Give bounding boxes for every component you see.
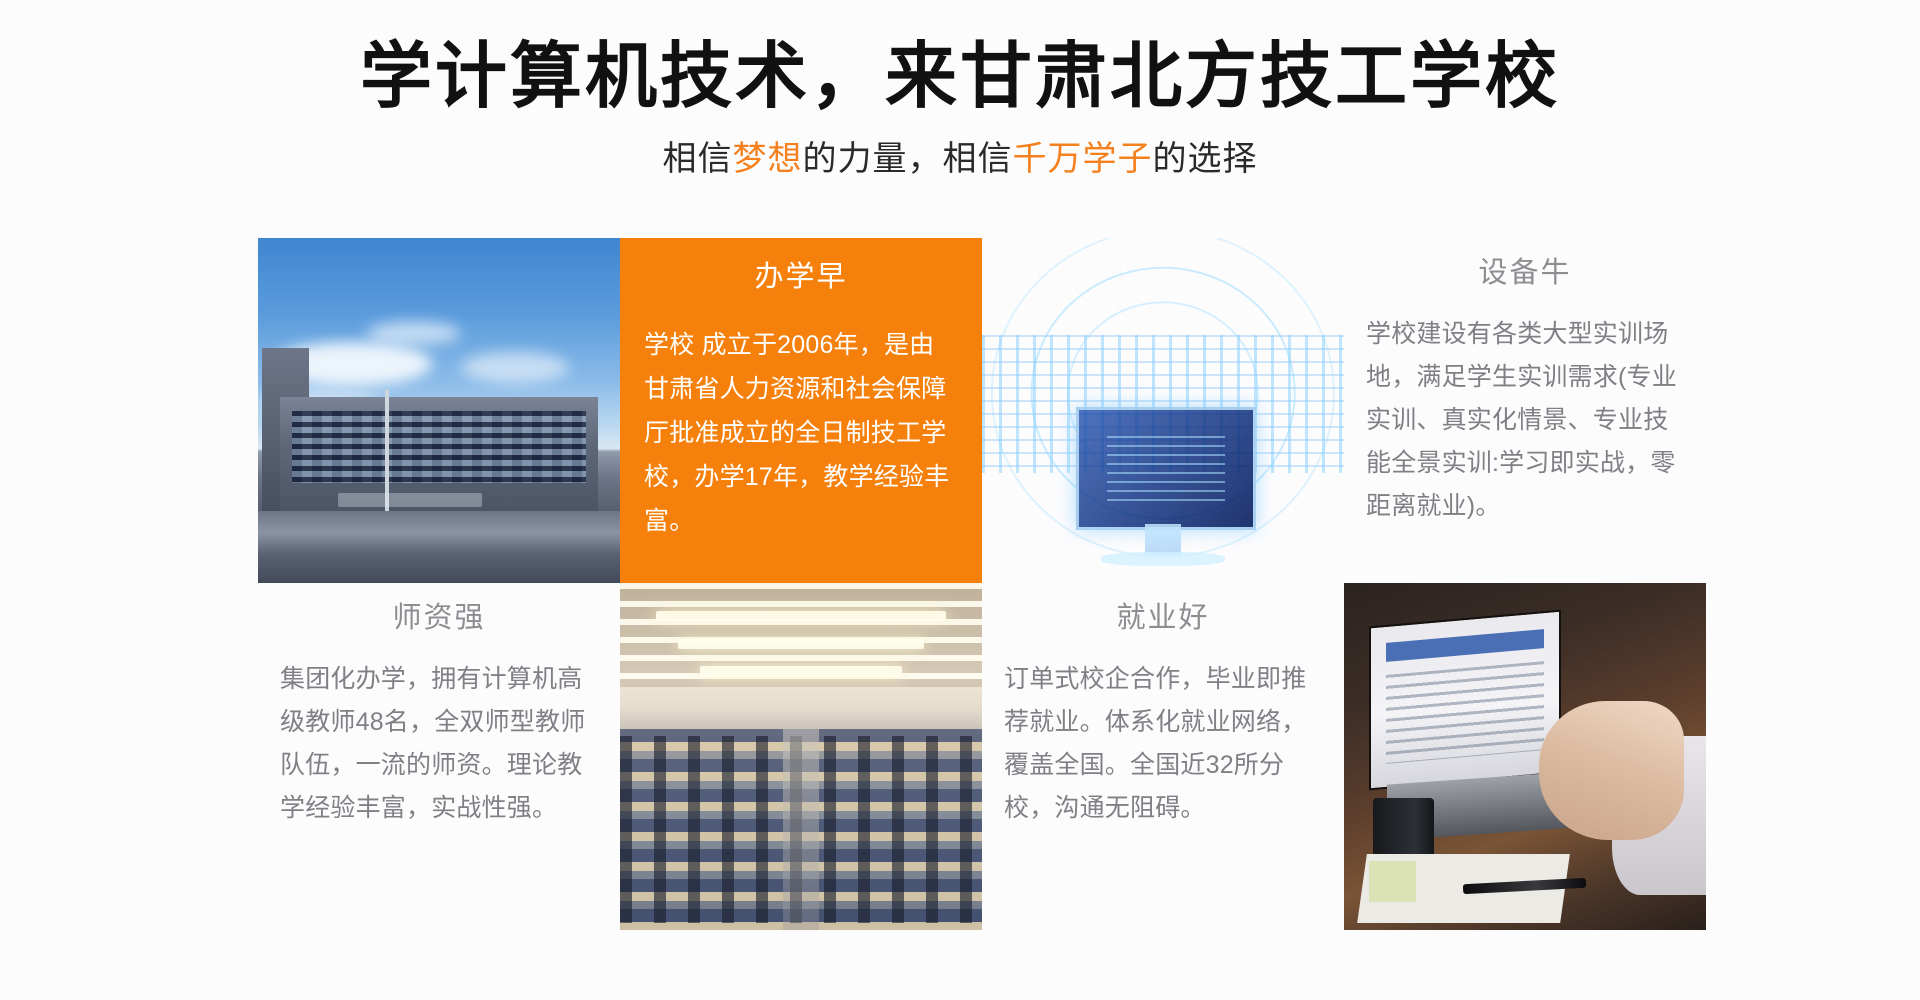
page-header: 学计算机技术，来甘肃北方技工学校 相信梦想的力量，相信千万学子的选择 [0,36,1920,181]
laptop-study-photo [1344,583,1706,930]
card-title-equipment-strong: 设备牛 [1366,256,1684,291]
feature-grid: 办学早 学校 成立于2006年，是由甘肃省人力资源和社会保障厅批准成立的全日制技… [258,238,1706,930]
subtitle-part-3: 的选择 [1153,140,1258,178]
subtitle-part-1: 相信 [663,140,733,178]
subtitle-highlight-dream: 梦想 [733,140,803,178]
classroom-students-photo [620,583,982,930]
card-employment-good: 就业好 订单式校企合作，毕业即推荐就业。体系化就业网络，覆盖全国。全国近32所分… [982,583,1344,930]
card-body-founded-early: 学校 成立于2006年，是由甘肃省人力资源和社会保障厅批准成立的全日制技工学校，… [644,323,958,543]
card-faculty-strong: 师资强 集团化办学，拥有计算机高级教师48名，全双师型教师队伍，一流的师资。理论… [258,583,620,930]
card-title-faculty-strong: 师资强 [280,601,598,636]
card-title-employment-good: 就业好 [1004,601,1322,636]
card-body-equipment-strong: 学校建设有各类大型实训场地，满足学生实训需求(专业实训、真实化情景、专业技能全景… [1366,313,1684,528]
subtitle-part-2: 的力量，相信 [803,140,1013,178]
page-subtitle: 相信梦想的力量，相信千万学子的选择 [0,137,1920,181]
card-body-employment-good: 订单式校企合作，毕业即推荐就业。体系化就业网络，覆盖全国。全国近32所分校，沟通… [1004,658,1322,830]
subtitle-highlight-students: 千万学子 [1013,140,1153,178]
promo-page: 学计算机技术，来甘肃北方技工学校 相信梦想的力量，相信千万学子的选择 办学早 [0,0,1920,1000]
page-title: 学计算机技术，来甘肃北方技工学校 [0,36,1920,119]
card-equipment-strong: 设备牛 学校建设有各类大型实训场地，满足学生实训需求(专业实训、真实化情景、专业… [1344,238,1706,583]
card-body-faculty-strong: 集团化办学，拥有计算机高级教师48名，全双师型教师队伍，一流的师资。理论教学经验… [280,658,598,830]
campus-building-photo [258,238,620,583]
digital-technology-photo [982,238,1344,583]
card-title-founded-early: 办学早 [644,260,958,295]
card-founded-early: 办学早 学校 成立于2006年，是由甘肃省人力资源和社会保障厅批准成立的全日制技… [620,238,982,583]
